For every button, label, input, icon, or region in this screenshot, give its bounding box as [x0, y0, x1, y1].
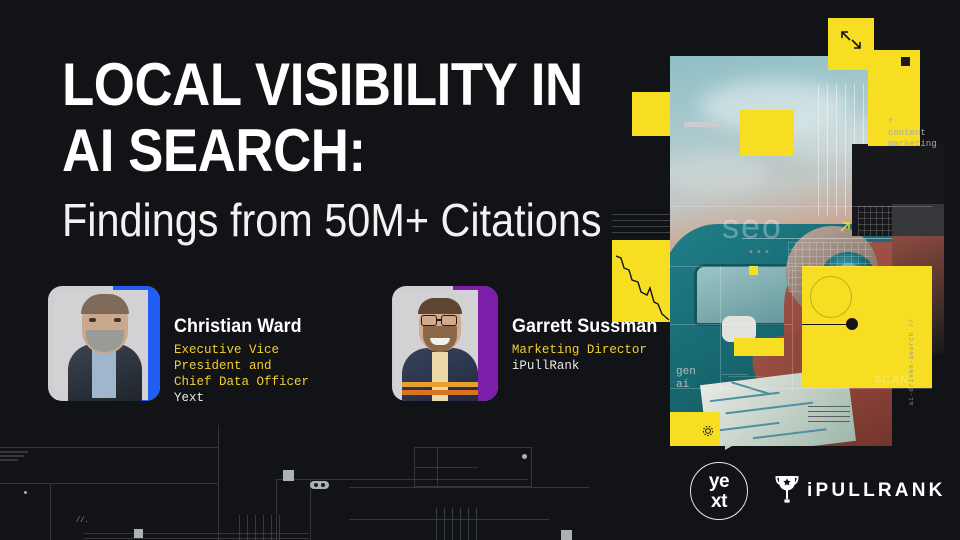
content-marketing-label: content marketing [888, 128, 937, 150]
speaker-org: Yext [174, 390, 310, 406]
vertical-micro-label: ai-driven-search // [908, 318, 915, 405]
christian-ward-headshot [48, 286, 160, 401]
dots-decoration: ••• [748, 248, 772, 259]
yext-logo-line-2: xt [711, 492, 727, 511]
title-line-1: LOCAL VISIBILITY IN [62, 52, 572, 118]
yellow-block-chart [612, 240, 670, 322]
gray-dash [684, 122, 720, 127]
speaker-name: Christian Ward [174, 316, 302, 338]
garrett-sussman-headshot [392, 286, 498, 401]
seo-watermark: seo [722, 208, 783, 247]
yellow-block-far-right [870, 266, 932, 388]
blueprint-decoration: //. [0, 425, 620, 540]
trophy-icon [774, 474, 800, 509]
logo-row: ye xt iPULLRANK [690, 462, 946, 520]
small-dark-square [901, 57, 910, 66]
yellow-bar-mid [734, 338, 784, 356]
title-line-2: AI SEARCH: [62, 118, 572, 184]
speaker-card-christian-ward: Christian Ward Executive Vice President … [48, 286, 310, 406]
yellow-block-center [740, 110, 794, 156]
play-icon [724, 438, 733, 456]
headshot-photo [48, 286, 160, 401]
arrow-up-right-icon [838, 220, 852, 239]
yellow-block-right-lower [802, 266, 870, 388]
ipullrank-logo: iPULLRANK [774, 474, 946, 509]
gen-ai-label: gen ai [676, 366, 696, 392]
ipullrank-wordmark: iPULLRANK [807, 480, 946, 502]
gear-icon [702, 424, 714, 442]
yext-logo: ye xt [690, 462, 748, 520]
yellow-dot-small [749, 266, 758, 275]
h-stripes-left [612, 214, 670, 238]
speaker-role: Executive Vice President and Chief Data … [174, 342, 310, 390]
scan-label: SCAN [874, 374, 909, 386]
yellow-block-left-small [632, 92, 670, 136]
hero-collage: seo [612, 18, 952, 448]
headshot-photo [392, 286, 498, 401]
slide-title-block: LOCAL VISIBILITY IN AI SEARCH: Findings … [62, 52, 642, 246]
slide-subtitle: Findings from 50M+ Citations [62, 194, 584, 246]
plus-label: + [888, 116, 893, 127]
h-stripes-bottom [808, 406, 850, 424]
descending-line-chart-icon [612, 309, 670, 326]
yellow-block-bottom-left [670, 412, 720, 446]
speaker-info: Christian Ward Executive Vice President … [174, 286, 310, 406]
speaker-list: Christian Ward Executive Vice President … [48, 286, 666, 406]
presentation-slide: //. LOCAL VISIBILITY IN AI SEARCH: Findi… [0, 0, 960, 540]
yext-logo-line-1: ye [709, 472, 729, 491]
collage-grey-panel [892, 204, 944, 238]
